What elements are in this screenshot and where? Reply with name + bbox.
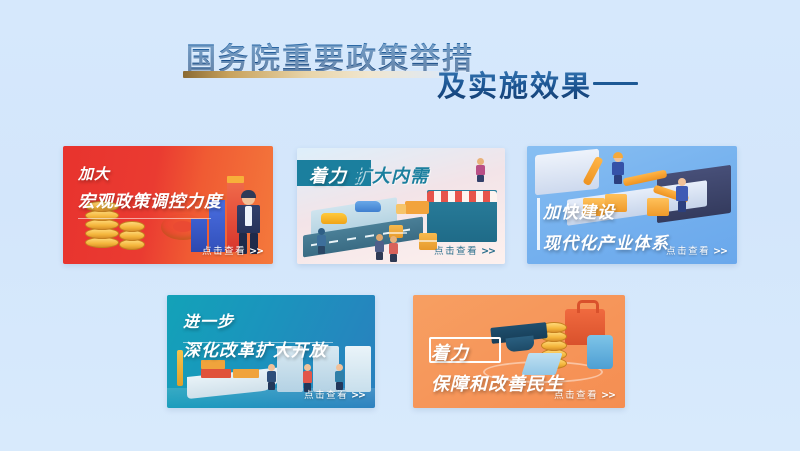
card-title-line1: 着力: [431, 339, 564, 365]
card-title-divider: [78, 218, 211, 219]
car-blue-icon: [355, 201, 381, 212]
card-cta-label: 点击查看: [434, 246, 478, 257]
card-title-line1: 着力: [309, 162, 347, 188]
pedestrian-figure-2: [373, 234, 385, 260]
worker-figure-2: [675, 178, 689, 212]
card-cta-label: 点击查看: [304, 390, 348, 401]
card-cta-arrows-icon: >>: [601, 390, 615, 401]
card-title-block: 着力 保障和改善民生: [431, 339, 564, 396]
medicine-bottle-icon: [587, 335, 613, 369]
card-cta-arrows-icon: >>: [713, 246, 727, 257]
pedestrian-figure-3: [387, 236, 399, 262]
card-title-line2: 宏观政策调控力度: [78, 187, 222, 212]
page-header: 国务院重要政策举措 及实施效果: [0, 0, 800, 118]
policy-card-reform-opening[interactable]: 进一步 深化改革扩大开放 点击查看>>: [167, 295, 375, 408]
ship-container-3: [233, 369, 259, 378]
card-cta-link[interactable]: 点击查看>>: [666, 243, 727, 257]
ship-container-1: [201, 369, 231, 378]
card-cta-label: 点击查看: [666, 246, 710, 257]
card-cta-label: 点击查看: [554, 390, 598, 401]
card-title-line2: 深化改革扩大开放: [183, 336, 327, 361]
policy-card-macro-regulation[interactable]: 加大 宏观政策调控力度 点击查看>>: [63, 146, 273, 264]
card-title-line2: 保障和改善民生: [431, 370, 564, 396]
coin-stack-small-icon: [119, 220, 145, 250]
person-figure-1: [265, 364, 277, 390]
card-title-block: 加快建设 现代化产业体系: [543, 198, 669, 254]
title-gold-underline: [183, 71, 441, 78]
pedestrian-figure-4: [475, 158, 486, 182]
card-title-line1: 加大: [78, 163, 222, 184]
card-title-line2: 扩大内需: [353, 162, 429, 188]
card-cta-link[interactable]: 点击查看>>: [202, 243, 263, 257]
card-title-block: 加大 宏观政策调控力度: [78, 163, 222, 212]
ship-container-2: [201, 360, 225, 369]
worker-figure-1: [611, 154, 625, 184]
card-cta-link[interactable]: 点击查看>>: [434, 243, 495, 257]
pedestrian-figure-1: [315, 228, 327, 254]
shop-awning: [427, 191, 497, 202]
policy-card-expand-demand[interactable]: 着力扩大内需 点击查看>>: [297, 148, 505, 264]
card-title-accent-bar: [537, 198, 540, 250]
card-cta-link[interactable]: 点击查看>>: [304, 387, 365, 401]
card-title-line1: 加快建设: [543, 198, 669, 223]
card-title-line2: 现代化产业体系: [543, 229, 669, 254]
card-title-block: 着力扩大内需: [309, 162, 429, 188]
car-yellow-icon: [321, 213, 347, 224]
delivery-truck-icon: [405, 201, 429, 214]
card-cta-link[interactable]: 点击查看>>: [554, 387, 615, 401]
card-title-block: 进一步 深化改革扩大开放: [183, 308, 327, 361]
card-cta-arrows-icon: >>: [249, 246, 263, 257]
card-title-line1: 进一步: [183, 308, 327, 332]
policy-card-livelihood[interactable]: 着力 保障和改善民生 点击查看>>: [413, 295, 625, 408]
title-decorative-rule: [593, 82, 638, 85]
card-title-divider: [183, 342, 333, 343]
policy-card-modern-industry[interactable]: 加快建设 现代化产业体系 点击查看>>: [527, 146, 737, 264]
card-cta-label: 点击查看: [202, 246, 246, 257]
doorway-shape-3: [345, 346, 371, 392]
card-cta-arrows-icon: >>: [351, 390, 365, 401]
page-title-line2: 及实施效果: [437, 63, 592, 105]
card-cta-arrows-icon: >>: [481, 246, 495, 257]
